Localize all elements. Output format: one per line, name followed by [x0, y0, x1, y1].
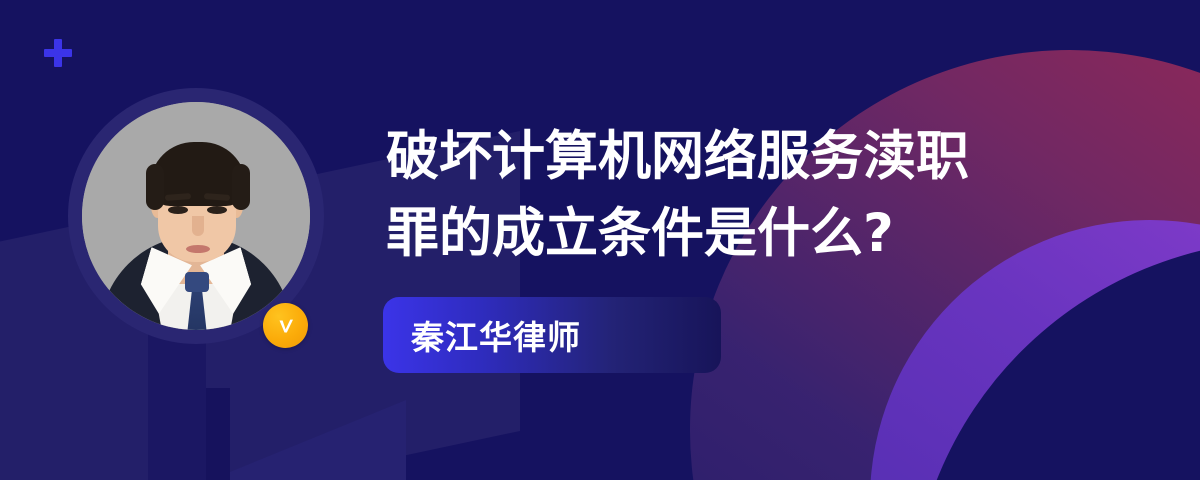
portrait-hair-side-left [146, 164, 164, 210]
portrait-nose [192, 216, 204, 236]
triangle-wedge-decoration [186, 400, 406, 480]
portrait-hair-side-right [232, 164, 250, 210]
portrait-mouth [186, 245, 210, 253]
lawyer-name-badge[interactable]: 秦江华律师 [383, 297, 721, 373]
notch-decoration [206, 388, 230, 480]
lawyer-qa-banner: 破坏计算机网络服务渎职 罪的成立条件是什么? 秦江华律师 [0, 0, 1200, 480]
arc-mask-decoration [910, 240, 1200, 480]
headline-block: 破坏计算机网络服务渎职 罪的成立条件是什么? [386, 118, 1086, 272]
portrait-eye-right [207, 206, 227, 214]
vertical-band-decoration [148, 330, 206, 480]
portrait-eye-left [168, 206, 188, 214]
lawyer-name-label: 秦江华律师 [383, 311, 581, 359]
page-title: 破坏计算机网络服务渎职 罪的成立条件是什么? [386, 118, 1086, 272]
avatar[interactable] [82, 102, 310, 330]
plus-icon-vertical-bar [54, 39, 62, 67]
plus-icon [44, 39, 72, 67]
portrait-necktie-knot [185, 272, 209, 292]
verified-check-icon [263, 303, 308, 348]
